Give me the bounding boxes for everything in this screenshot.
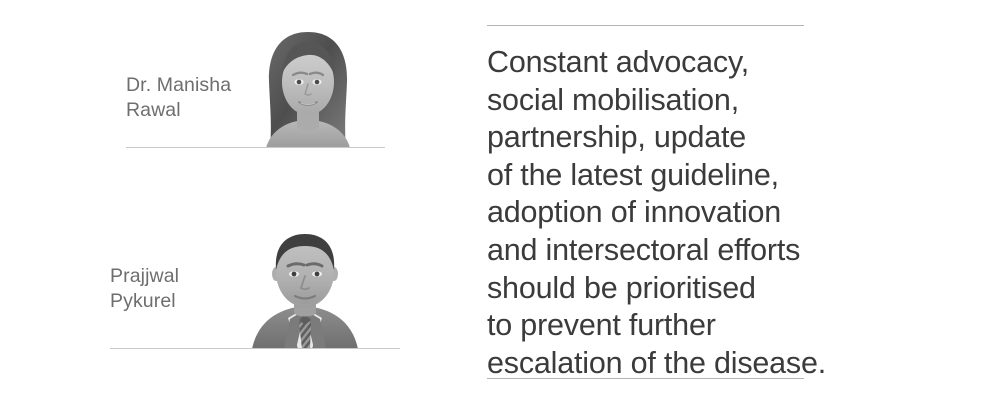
portrait-photo-man-grayscale	[240, 222, 370, 349]
pullquote-line: and intersectoral efforts	[487, 232, 817, 270]
pullquote-top-rule	[487, 25, 804, 26]
contributor-portrait	[240, 222, 370, 349]
pullquote-line: to prevent further	[487, 307, 817, 345]
contributor-divider-rule	[126, 147, 385, 148]
pullquote-bottom-rule	[487, 378, 804, 379]
portrait-photo-woman-grayscale	[248, 20, 368, 148]
contributor-card: Dr. ManishaRawal	[0, 20, 470, 148]
pullquote-line: of the latest guideline,	[487, 157, 817, 195]
pullquote-text: Constant advocacy, social mobilisation, …	[487, 44, 817, 382]
pullquote-block: Constant advocacy, social mobilisation, …	[487, 0, 804, 400]
pullquote-line: escalation of the disease.	[487, 345, 817, 383]
contributor-divider-rule	[110, 348, 400, 349]
contributor-name-line-1: Prajjwal	[110, 265, 179, 287]
contributor-card: PrajjwalPykurel	[0, 222, 470, 349]
contributor-name-line-2: Rawal	[126, 99, 181, 121]
contributor-name: PrajjwalPykurel	[110, 264, 179, 314]
pullquote-line: adoption of innovation	[487, 194, 817, 232]
contributor-name: Dr. ManishaRawal	[126, 73, 231, 123]
pullquote-line: partnership, update	[487, 119, 817, 157]
contributor-name-line-1: Dr. Manisha	[126, 74, 231, 96]
pullquote-line: should be prioritised	[487, 270, 817, 308]
pullquote-line: social mobilisation,	[487, 82, 817, 120]
pullquote-line: Constant advocacy,	[487, 44, 817, 82]
contributor-portrait	[248, 20, 368, 148]
contributor-name-line-2: Pykurel	[110, 290, 176, 312]
